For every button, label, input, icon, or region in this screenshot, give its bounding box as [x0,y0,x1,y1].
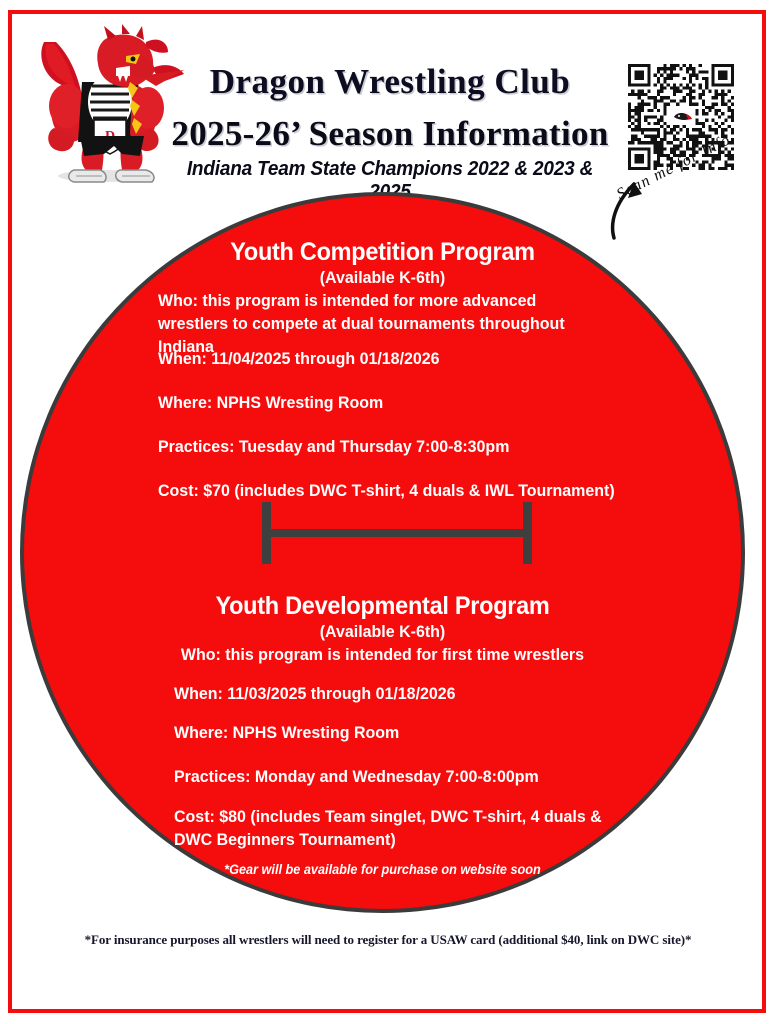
program-title-competition: Youth Competition Program [46,238,720,267]
program-cost-competition: Cost: $70 (includes DWC T-shirt, 4 duals… [158,480,615,503]
cost-text-developmental: $80 (includes Team singlet, DWC T-shirt,… [174,807,602,849]
practices-text-competition: Tuesday and Thursday 7:00-8:30pm [234,437,509,456]
program-practices-competition: Practices: Tuesday and Thursday 7:00-8:3… [158,436,509,459]
h-divider-icon [262,502,532,564]
program-title-developmental: Youth Developmental Program [46,592,720,621]
program-availability-developmental: (Available K-6th) [46,622,720,642]
when-text-developmental: 11/03/2025 through 01/18/2026 [223,684,456,703]
where-text-developmental: NPHS Wresting Room [228,723,399,742]
where-text-competition: NPHS Wresting Room [212,393,383,412]
program-where-competition: Where: NPHS Wresting Room [158,392,383,415]
insurance-footer-note: *For insurance purposes all wrestlers wi… [0,932,776,948]
page-title: Dragon Wrestling Club [160,62,620,102]
who-text-competition: this program is intended for more advanc… [158,291,565,356]
cost-text-competition: $70 (includes DWC T-shirt, 4 duals & IWL… [199,481,615,500]
season-subtitle: 2025-26’ Season Information [160,114,620,154]
program-circle: Youth Competition Program (Available K-6… [20,192,745,913]
practices-text-developmental: Monday and Wednesday 7:00-8:00pm [250,767,538,786]
practices-label-competition: Practices: [158,437,234,456]
where-label-competition: Where: [158,393,212,412]
program-practices-developmental: Practices: Monday and Wednesday 7:00-8:0… [174,766,539,789]
program-where-developmental: Where: NPHS Wresting Room [174,722,399,745]
program-cost-developmental: Cost: $80 (includes Team singlet, DWC T-… [174,806,616,852]
when-label-competition: When: [158,349,207,368]
cost-label-competition: Cost: [158,481,199,500]
who-text-developmental: this program is intended for first time … [221,645,584,664]
poster-header: Dragon Wrestling Club 2025-26’ Season In… [160,62,620,204]
gear-note: *Gear will be available for purchase on … [46,862,720,877]
cost-label-developmental: Cost: [174,807,215,826]
who-label-competition: Who: [158,291,198,310]
poster-page: D [0,0,776,1024]
when-label-developmental: When: [174,684,223,703]
program-availability-competition: (Available K-6th) [46,268,720,288]
program-when-competition: When: 11/04/2025 through 01/18/2026 [158,348,440,371]
where-label-developmental: Where: [174,723,228,742]
qr-center-logo-icon [671,108,693,124]
practices-label-developmental: Practices: [174,767,250,786]
program-who-developmental: Who: this program is intended for first … [46,644,720,667]
program-when-developmental: When: 11/03/2025 through 01/18/2026 [174,683,456,706]
who-label-developmental: Who: [181,645,221,664]
when-text-competition: 11/04/2025 through 01/18/2026 [207,349,440,368]
